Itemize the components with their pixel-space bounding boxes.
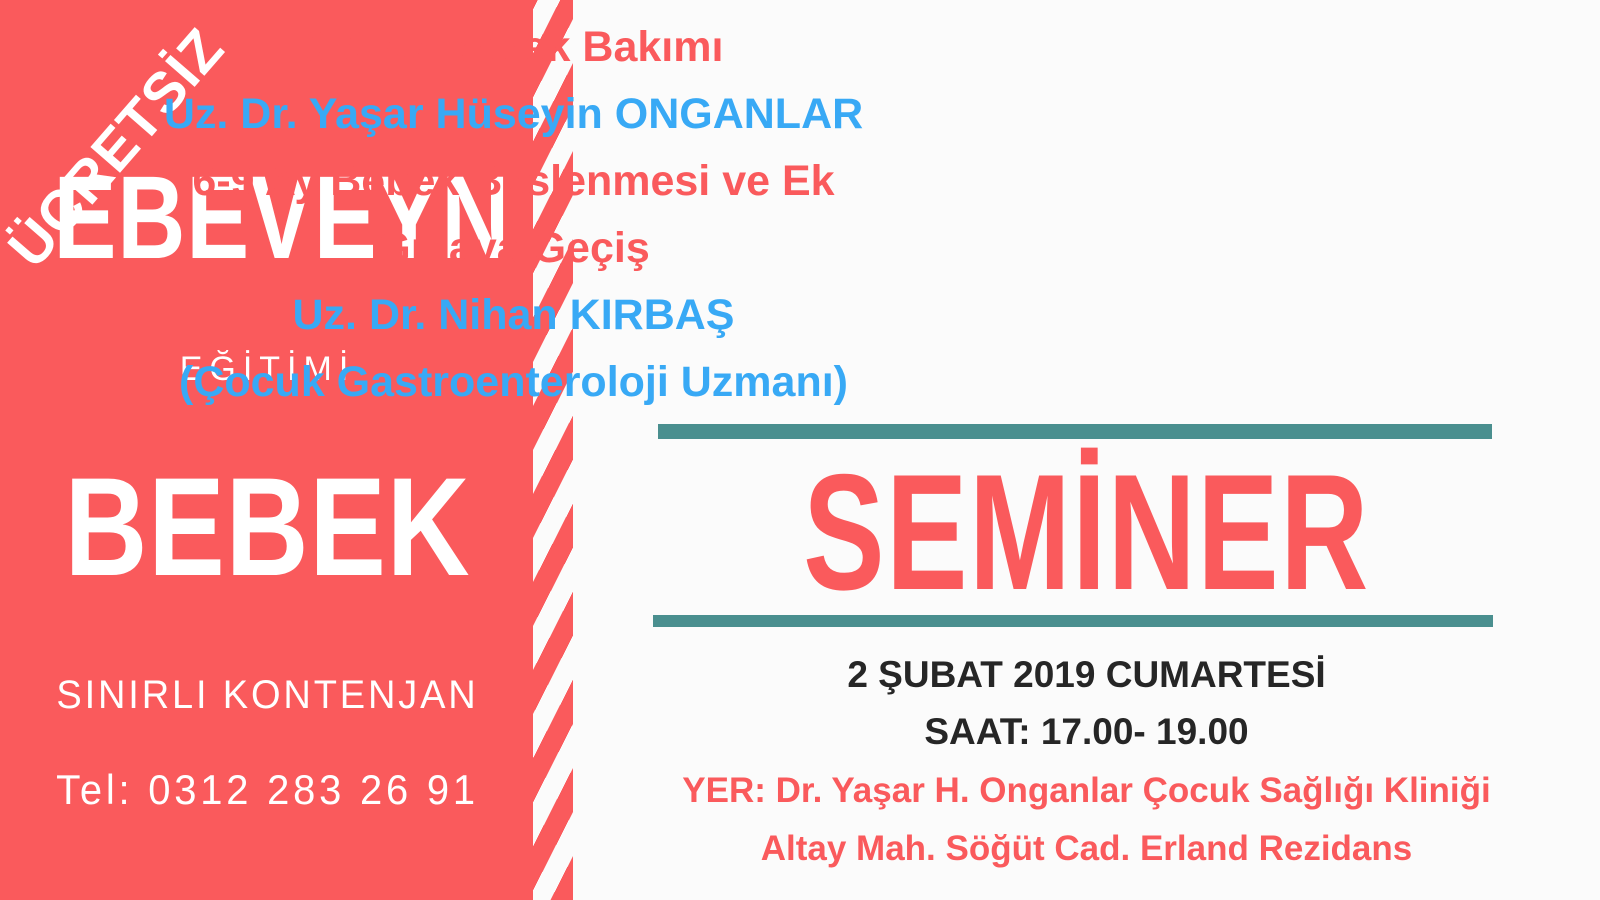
teal-rule-top [658, 424, 1492, 439]
event-time: SAAT: 17.00- 19.00 [573, 702, 1600, 762]
event-title: SEMİNER [707, 452, 1467, 612]
event-details: 2 ŞUBAT 2019 CUMARTESİ SAAT: 17.00- 19.0… [573, 648, 1600, 878]
topic-item: Gıdaya Geçiş [0, 215, 1027, 282]
teal-rule-bottom [653, 615, 1493, 627]
phone-number[interactable]: Tel: 0312 283 26 91 [13, 766, 521, 814]
limited-capacity-note: SINIRLI KONTENJAN [13, 673, 521, 718]
seminar-poster: ÜCRETSİZ EBEVEYN EĞİTİMİ BEBEK SINIRLI K… [0, 0, 1600, 900]
topic-list: 0-6 Ay Bebek Bakımı Uz. Dr. Yaşar Hüseyi… [0, 14, 1027, 416]
topic-item: Uz. Dr. Nihan KIRBAŞ [0, 282, 1027, 349]
event-venue: YER: Dr. Yaşar H. Onganlar Çocuk Sağlığı… [573, 762, 1600, 820]
topic-item: (Çocuk Gastroenteroloji Uzmanı) [0, 349, 1027, 416]
event-address: Altay Mah. Söğüt Cad. Erland Rezidans [573, 820, 1600, 878]
topic-item: Uz. Dr. Yaşar Hüseyin ONGANLAR [0, 81, 1027, 148]
headline-baby: BEBEK [48, 462, 487, 592]
topic-item: 6-9 Ay Bebek Beslenmesi ve Ek [0, 148, 1027, 215]
topic-item: 0-6 Ay Bebek Bakımı [0, 14, 1027, 81]
event-date: 2 ŞUBAT 2019 CUMARTESİ [573, 648, 1600, 702]
